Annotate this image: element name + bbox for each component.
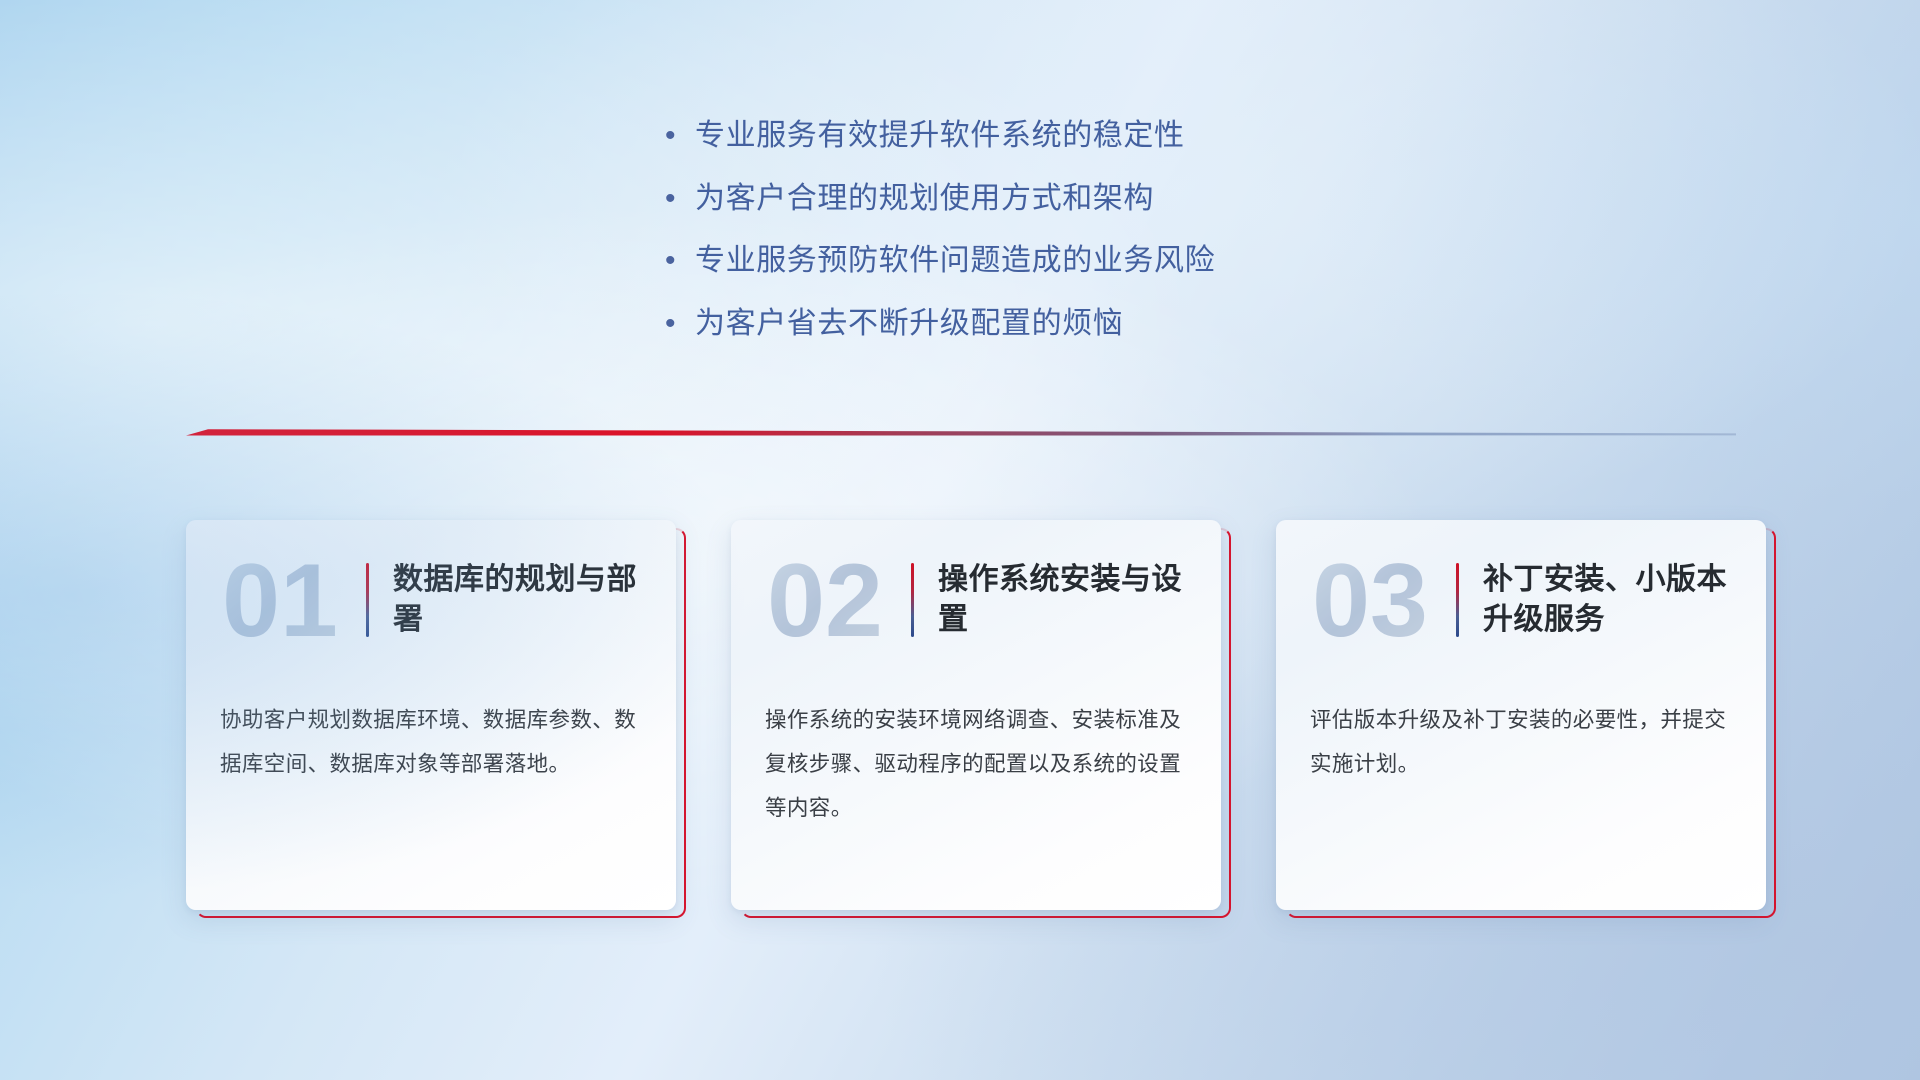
service-card[interactable]: 01 数据库的规划与部署 协助客户规划数据库环境、数据库参数、数据库空间、数据库… bbox=[186, 520, 676, 910]
bullet-text: 专业服务有效提升软件系统的稳定性 bbox=[695, 116, 1185, 156]
card-title: 补丁安装、小版本升级服务 bbox=[1483, 560, 1743, 640]
section-divider bbox=[186, 424, 1736, 440]
service-card-list: 01 数据库的规划与部署 协助客户规划数据库环境、数据库参数、数据库空间、数据库… bbox=[186, 520, 1766, 910]
card-description: 协助客户规划数据库环境、数据库参数、数据库空间、数据库对象等部署落地。 bbox=[186, 680, 676, 786]
list-item: • 专业服务预防软件问题造成的业务风险 bbox=[665, 241, 1425, 281]
bullet-dot-icon: • bbox=[665, 246, 695, 276]
card-title-rule bbox=[366, 563, 369, 637]
card-number-watermark: 02 bbox=[755, 541, 895, 659]
slide-canvas: • 专业服务有效提升软件系统的稳定性 • 为客户合理的规划使用方式和架构 • 专… bbox=[0, 0, 1920, 1080]
benefits-bullet-list: • 专业服务有效提升软件系统的稳定性 • 为客户合理的规划使用方式和架构 • 专… bbox=[665, 116, 1425, 366]
bullet-text: 为客户合理的规划使用方式和架构 bbox=[695, 179, 1154, 219]
card-number-watermark: 01 bbox=[210, 541, 350, 659]
card-header: 03 补丁安装、小版本升级服务 bbox=[1276, 520, 1766, 680]
bullet-dot-icon: • bbox=[665, 309, 695, 339]
card-description: 评估版本升级及补丁安装的必要性，并提交实施计划。 bbox=[1276, 680, 1766, 786]
card-title: 数据库的规划与部署 bbox=[393, 560, 653, 640]
service-card[interactable]: 03 补丁安装、小版本升级服务 评估版本升级及补丁安装的必要性，并提交实施计划。 bbox=[1276, 520, 1766, 910]
card-surface: 03 补丁安装、小版本升级服务 评估版本升级及补丁安装的必要性，并提交实施计划。 bbox=[1276, 520, 1766, 910]
card-title-rule bbox=[911, 563, 914, 637]
card-header: 01 数据库的规划与部署 bbox=[186, 520, 676, 680]
card-number-watermark: 03 bbox=[1300, 541, 1440, 659]
card-description: 操作系统的安装环境网络调查、安装标准及复核步骤、驱动程序的配置以及系统的设置等内… bbox=[731, 680, 1221, 830]
card-surface: 02 操作系统安装与设置 操作系统的安装环境网络调查、安装标准及复核步骤、驱动程… bbox=[731, 520, 1221, 910]
bullet-text: 专业服务预防软件问题造成的业务风险 bbox=[695, 241, 1215, 281]
card-title-rule bbox=[1456, 563, 1459, 637]
card-surface: 01 数据库的规划与部署 协助客户规划数据库环境、数据库参数、数据库空间、数据库… bbox=[186, 520, 676, 910]
bullet-text: 为客户省去不断升级配置的烦恼 bbox=[695, 304, 1123, 344]
card-title: 操作系统安装与设置 bbox=[938, 560, 1198, 640]
card-header: 02 操作系统安装与设置 bbox=[731, 520, 1221, 680]
service-card[interactable]: 02 操作系统安装与设置 操作系统的安装环境网络调查、安装标准及复核步骤、驱动程… bbox=[731, 520, 1221, 910]
bullet-dot-icon: • bbox=[665, 184, 695, 214]
list-item: • 为客户合理的规划使用方式和架构 bbox=[665, 179, 1425, 219]
bullet-dot-icon: • bbox=[665, 121, 695, 151]
list-item: • 为客户省去不断升级配置的烦恼 bbox=[665, 304, 1425, 344]
list-item: • 专业服务有效提升软件系统的稳定性 bbox=[665, 116, 1425, 156]
